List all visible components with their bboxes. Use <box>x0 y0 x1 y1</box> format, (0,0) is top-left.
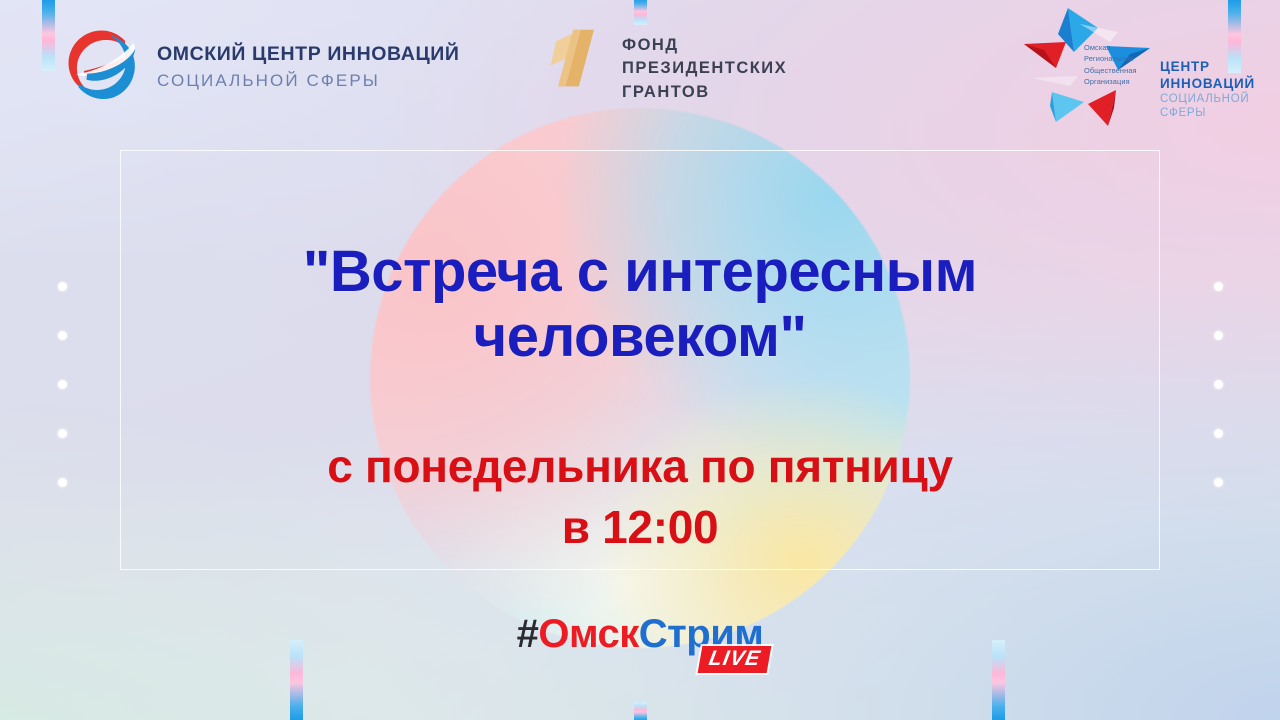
hashtag-part-omsk: Омск <box>538 612 638 656</box>
gold-ribbon-icon <box>548 26 606 92</box>
decor-dot <box>58 380 67 389</box>
logo-ciss-right-line3: СОЦИАЛЬНОЙ <box>1160 92 1255 106</box>
schedule-line-2: в 12:00 <box>0 497 1280 558</box>
logo-ciss: Омская Региональная Общественная Организ… <box>1022 6 1272 156</box>
circle-swoosh-icon <box>58 22 144 108</box>
logo-ciss-name-text: ЦЕНТР ИННОВАЦИЙ СОЦИАЛЬНОЙ СФЕРЫ <box>1160 58 1255 121</box>
logo-ciss-right-line1: ЦЕНТР <box>1160 58 1255 75</box>
accent-bar-top-left <box>42 0 55 71</box>
headline-line-1: "Встреча с интересным <box>0 240 1280 305</box>
logo-fund-line2: ПРЕЗИДЕНТСКИХ <box>622 57 787 80</box>
presentation-slide: ОМСКИЙ ЦЕНТР ИННОВАЦИЙ СОЦИАЛЬНОЙ СФЕРЫ … <box>0 0 1280 720</box>
decor-dot <box>1214 380 1223 389</box>
logo-omsk-center-innovations: ОМСКИЙ ЦЕНТР ИННОВАЦИЙ СОЦИАЛЬНОЙ СФЕРЫ <box>58 22 460 108</box>
live-badge: LIVE <box>698 646 772 673</box>
logo-presidential-grants-fund: ФОНД ПРЕЗИДЕНТСКИХ ГРАНТОВ <box>548 26 787 104</box>
logo-ciss-org-text: Омская Региональная Общественная Организ… <box>1084 42 1137 88</box>
slide-headline-block: "Встреча с интересным человеком" <box>0 240 1280 370</box>
logo-ocis-line2: СОЦИАЛЬНОЙ СФЕРЫ <box>157 72 460 89</box>
logo-ciss-inner-line1: Омская <box>1084 42 1137 53</box>
live-badge-label: LIVE <box>707 648 762 670</box>
accent-bar-top-center <box>634 0 647 25</box>
hero-gradient-circle <box>370 108 910 648</box>
headline-line-2: человеком" <box>0 305 1280 370</box>
hashtag-sign: # <box>517 612 539 656</box>
slide-schedule-block: с понедельника по пятницу в 12:00 <box>0 436 1280 557</box>
logo-omsk-center-text: ОМСКИЙ ЦЕНТР ИННОВАЦИЙ СОЦИАЛЬНОЙ СФЕРЫ <box>157 41 460 89</box>
logo-ciss-right-line4: СФЕРЫ <box>1160 106 1255 120</box>
logo-ciss-inner-line2: Региональная <box>1084 53 1137 64</box>
logo-fund-line1: ФОНД <box>622 34 787 57</box>
logo-ciss-inner-line4: Организация <box>1084 76 1137 87</box>
hashtag-wordmark: #ОмскСтримLIVE <box>517 614 764 654</box>
logo-omskstrim-hashtag: #ОмскСтримLIVE <box>0 614 1280 654</box>
logo-ciss-right-line2: ИННОВАЦИЙ <box>1160 75 1255 92</box>
schedule-line-1: с понедельника по пятницу <box>0 436 1280 497</box>
logo-ocis-line1: ОМСКИЙ ЦЕНТР ИННОВАЦИЙ <box>157 45 460 65</box>
logo-fund-text: ФОНД ПРЕЗИДЕНТСКИХ ГРАНТОВ <box>622 26 787 104</box>
accent-bar-bottom-center <box>634 702 647 720</box>
logo-fund-line3: ГРАНТОВ <box>622 81 787 104</box>
logo-ciss-inner-line3: Общественная <box>1084 65 1137 76</box>
